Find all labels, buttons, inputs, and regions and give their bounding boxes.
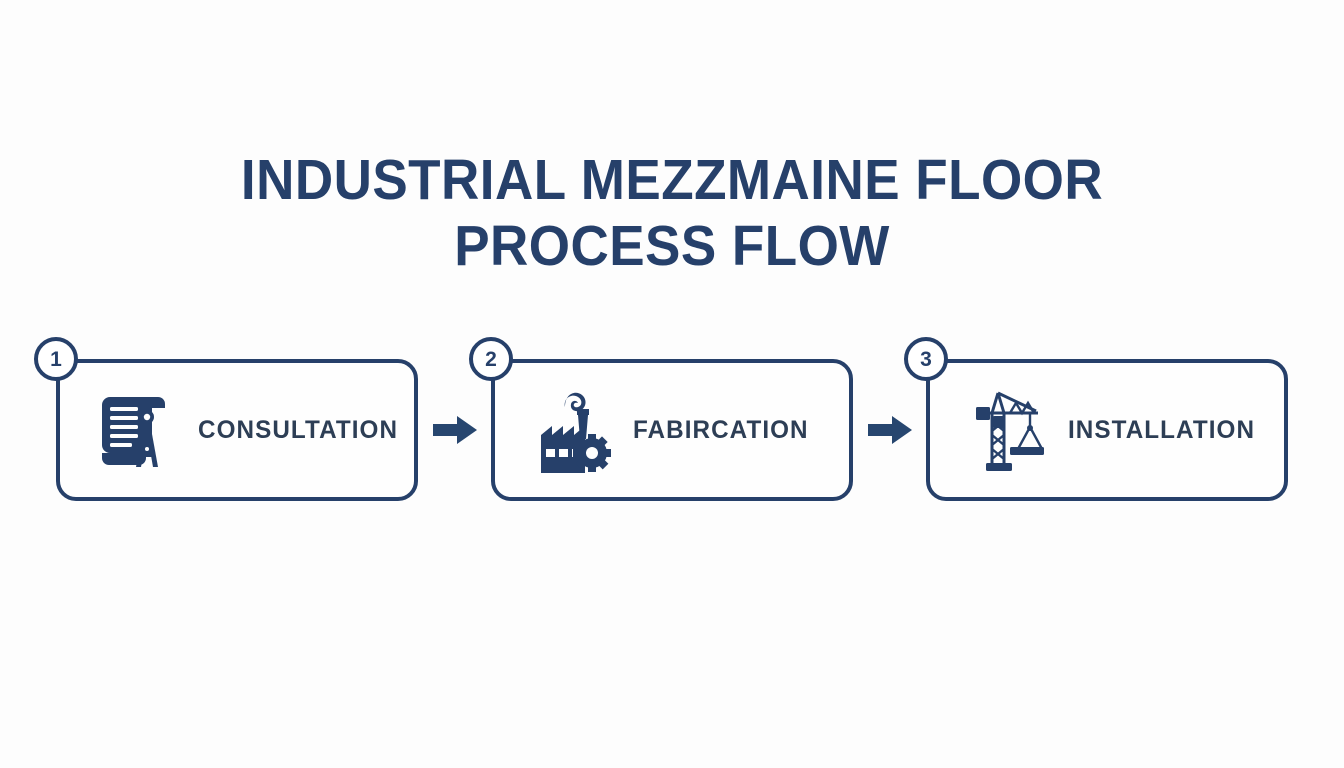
step-number-badge: 2	[469, 337, 513, 381]
arrow-right-icon	[868, 415, 912, 445]
step-label: CONSULTATION	[198, 416, 398, 445]
page-title-line-1: INDUSTRIAL MEZZMAINE FLOOR	[47, 150, 1297, 210]
arrow-right-icon	[433, 415, 477, 445]
step-number-badge: 1	[34, 337, 78, 381]
tower-crane-icon	[970, 387, 1046, 473]
page-title: INDUSTRIAL MEZZMAINE FLOOR PROCESS FLOW	[0, 150, 1344, 277]
step-card[interactable]: FABIRCATION	[491, 359, 853, 501]
step-label: INSTALLATION	[1068, 416, 1255, 445]
connector-2	[853, 359, 926, 501]
process-step-consultation[interactable]: CONSULTATION 1	[56, 359, 418, 501]
process-step-installation[interactable]: INSTALLATION 3	[926, 359, 1288, 501]
connector-1	[418, 359, 491, 501]
process-step-fabrication[interactable]: FABIRCATION 2	[491, 359, 853, 501]
blueprint-compass-icon	[100, 387, 176, 473]
step-number-badge: 3	[904, 337, 948, 381]
process-flow-infographic: INDUSTRIAL MEZZMAINE FLOOR PROCESS FLOW	[0, 0, 1344, 768]
step-card[interactable]: INSTALLATION	[926, 359, 1288, 501]
factory-gear-icon	[535, 387, 611, 473]
step-card[interactable]: CONSULTATION	[56, 359, 418, 501]
page-title-line-2: PROCESS FLOW	[47, 216, 1297, 276]
process-flow-row: CONSULTATION 1	[56, 356, 1288, 504]
step-label: FABIRCATION	[633, 416, 809, 445]
